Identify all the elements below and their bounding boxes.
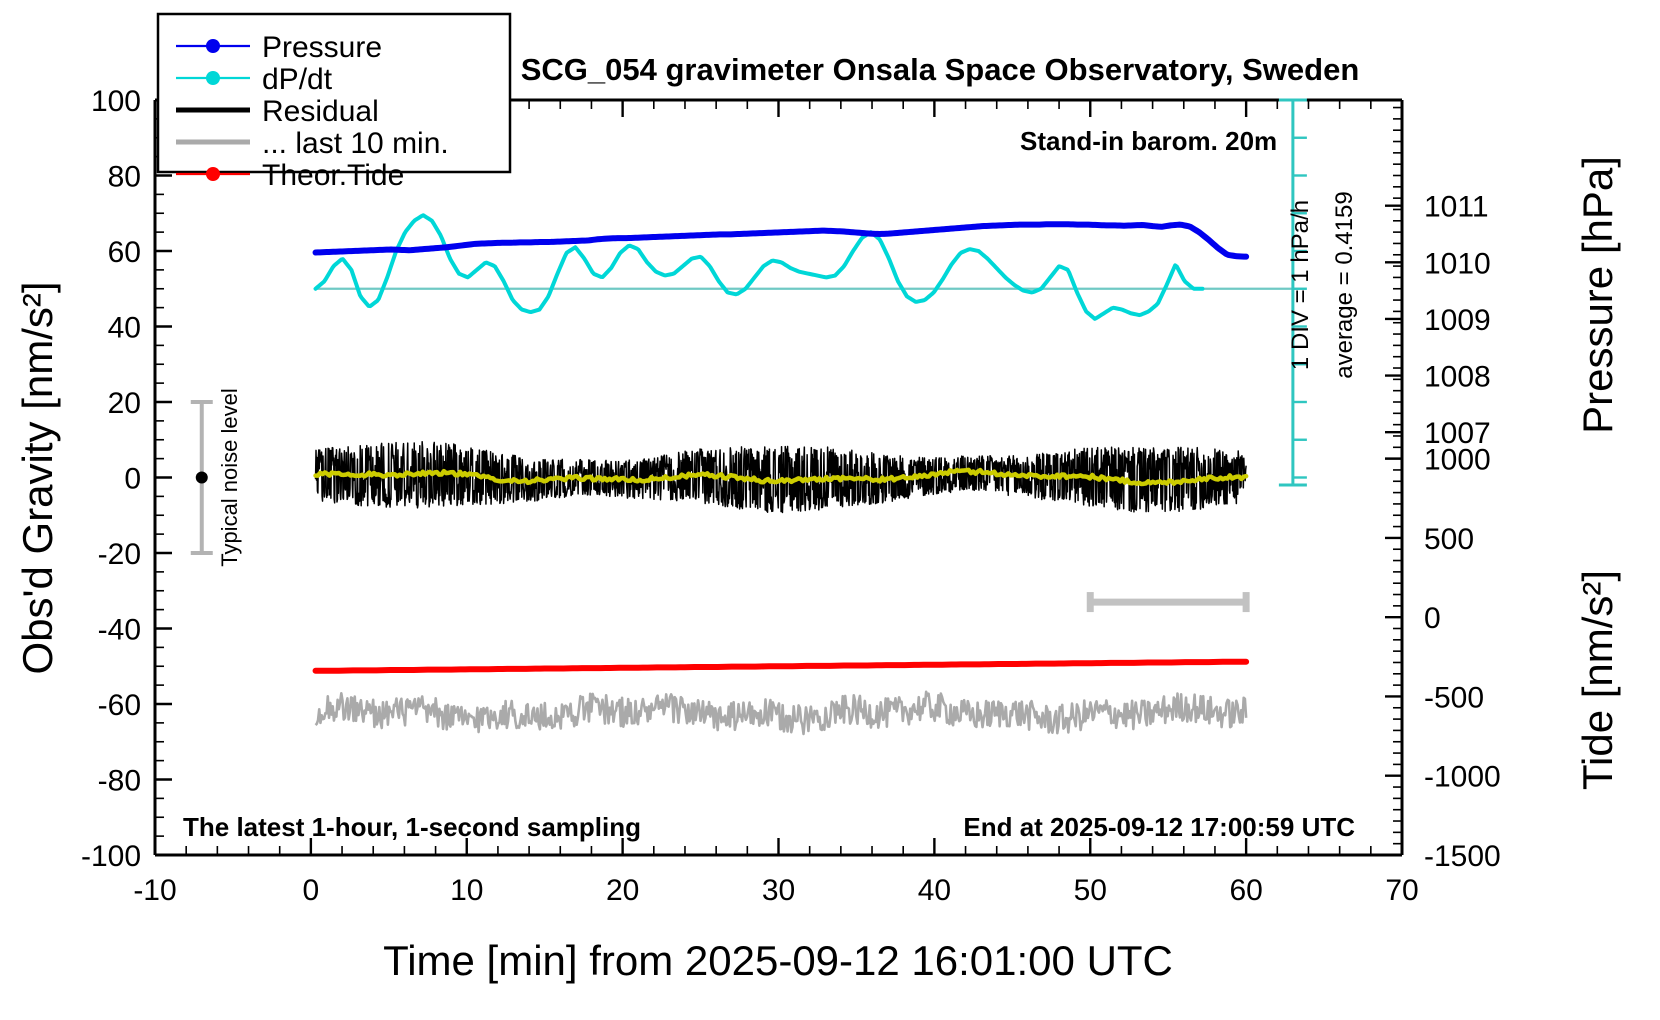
svg-text:-1000: -1000 <box>1424 761 1501 794</box>
svg-text:-40: -40 <box>98 614 141 647</box>
svg-text:100: 100 <box>91 85 141 118</box>
gravimeter-chart: -100-80-60-40-20020406080100 -1001020304… <box>0 0 1660 1020</box>
svg-text:-1500: -1500 <box>1424 840 1501 873</box>
svg-text:-20: -20 <box>98 538 141 571</box>
typical-noise-level-label: Typical noise level <box>217 388 242 567</box>
svg-text:20: 20 <box>606 874 639 907</box>
legend-label-4: Theor.Tide <box>262 159 404 192</box>
data-series <box>316 215 1293 734</box>
y-axis-left-ticks <box>155 100 172 855</box>
x-axis-labels: -10010203040506070 <box>133 874 1418 907</box>
page-title: SCG_054 gravimeter Onsala Space Observat… <box>521 52 1360 87</box>
svg-text:0: 0 <box>124 463 141 496</box>
svg-text:30: 30 <box>762 874 795 907</box>
y-axis-right-tide-title: Tide [nm/s²] <box>1574 570 1621 790</box>
svg-text:70: 70 <box>1385 874 1418 907</box>
svg-text:-10: -10 <box>133 874 176 907</box>
svg-text:50: 50 <box>1074 874 1107 907</box>
y-axis-left-labels: -100-80-60-40-20020406080100 <box>81 85 141 873</box>
footer-right-label: End at 2025-09-12 17:00:59 UTC <box>963 812 1355 842</box>
y-axis-right-pressure-title: Pressure [hPa] <box>1574 156 1621 434</box>
series-last-10-min <box>316 692 1247 734</box>
svg-text:-80: -80 <box>98 765 141 798</box>
legend-label-2: Residual <box>262 95 379 128</box>
svg-text:-60: -60 <box>98 689 141 722</box>
svg-text:1011: 1011 <box>1424 191 1489 224</box>
svg-text:1009: 1009 <box>1424 304 1491 337</box>
svg-text:60: 60 <box>1229 874 1262 907</box>
div-scale-label: 1 DIV = 1 hPa/h <box>1287 200 1314 370</box>
legend-label-0: Pressure <box>262 31 382 64</box>
legend-label-1: dP/dt <box>262 63 333 96</box>
last-10-min-span-bar <box>1090 592 1246 612</box>
series-pressure <box>316 224 1247 256</box>
legend[interactable]: PressuredP/dtResidual... last 10 min.The… <box>158 14 510 192</box>
svg-text:0: 0 <box>1424 602 1441 635</box>
svg-text:1010: 1010 <box>1424 247 1491 280</box>
svg-text:-100: -100 <box>81 840 141 873</box>
pressure-axis-labels: 10071008100910101011 <box>1424 191 1491 451</box>
svg-text:40: 40 <box>108 312 141 345</box>
x-axis-title: Time [min] from 2025-09-12 16:01:00 UTC <box>383 937 1173 984</box>
typical-noise-level-marker: Typical noise level <box>191 388 242 567</box>
svg-text:500: 500 <box>1424 523 1474 556</box>
series-theor-tide <box>316 662 1247 671</box>
y-axis-right-ticks <box>1385 108 1402 855</box>
svg-text:-500: -500 <box>1424 681 1484 714</box>
chart-canvas: -100-80-60-40-20020406080100 -1001020304… <box>0 0 1660 1020</box>
legend-label-3: ... last 10 min. <box>262 127 449 160</box>
standin-barometer-label: Stand-in barom. 20m <box>1020 126 1277 156</box>
svg-text:10: 10 <box>450 874 483 907</box>
svg-text:20: 20 <box>108 387 141 420</box>
svg-text:0: 0 <box>303 874 320 907</box>
footer-left-label: The latest 1-hour, 1-second sampling <box>183 812 641 842</box>
svg-text:1008: 1008 <box>1424 361 1491 394</box>
svg-text:40: 40 <box>918 874 951 907</box>
average-label: average = 0.4159 <box>1331 191 1358 379</box>
svg-text:60: 60 <box>108 236 141 269</box>
y-axis-left-title: Obs'd Gravity [nm/s²] <box>14 281 61 674</box>
tide-axis-labels: -1500-1000-50005001000 <box>1424 444 1501 873</box>
svg-text:1000: 1000 <box>1424 444 1491 477</box>
svg-text:80: 80 <box>108 161 141 194</box>
